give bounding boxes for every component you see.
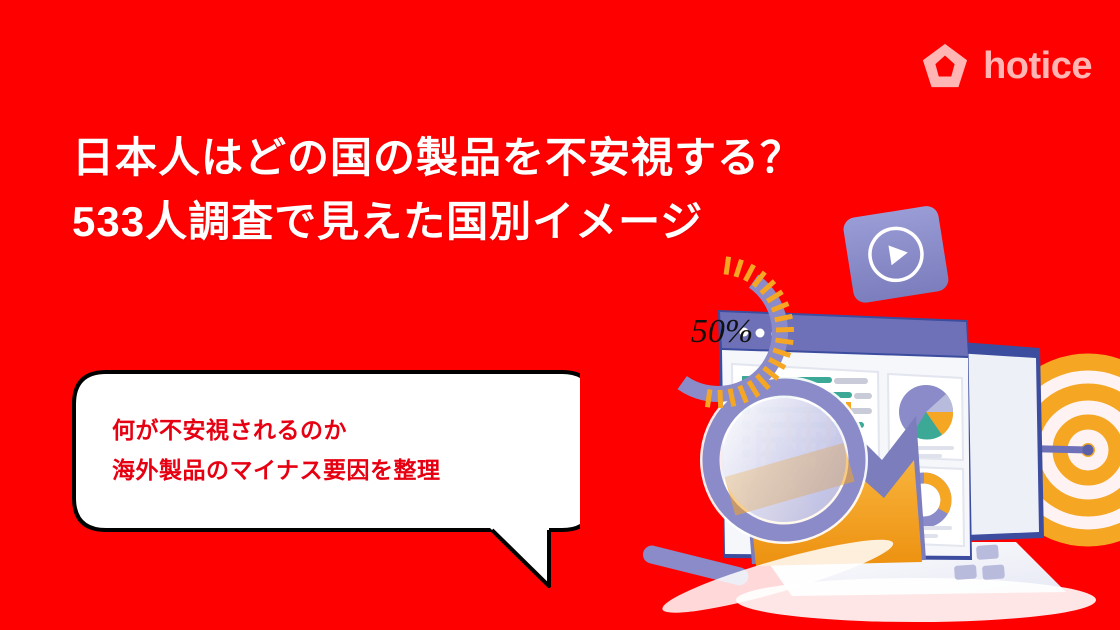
- donut-label: 50%: [691, 313, 753, 350]
- poster-canvas: hotice 日本人はどの国の製品を不安視する？ 533人調査で見えた国別イメー…: [0, 0, 1120, 630]
- pentagon-droplet-icon: [921, 42, 969, 90]
- headline-line-1: 日本人はどの国の製品を不安視する？: [72, 126, 803, 190]
- brand-logo: hotice: [921, 42, 1092, 90]
- page-title: 日本人はどの国の製品を不安視する？ 533人調査で見えた国別イメージ: [72, 126, 803, 254]
- callout-line-2: 海外製品のマイナス要因を整理: [112, 450, 441, 490]
- play-card-icon: [842, 204, 950, 304]
- headline-line-2: 533人調査で見えた国別イメージ: [72, 190, 803, 254]
- brand-name: hotice: [983, 47, 1092, 85]
- callout-line-1: 何が不安視されるのか: [112, 410, 441, 450]
- callout-text: 何が不安視されるのか 海外製品のマイナス要因を整理: [112, 410, 441, 490]
- callout-bubble: 何が不安視されるのか 海外製品のマイナス要因を整理: [60, 358, 580, 598]
